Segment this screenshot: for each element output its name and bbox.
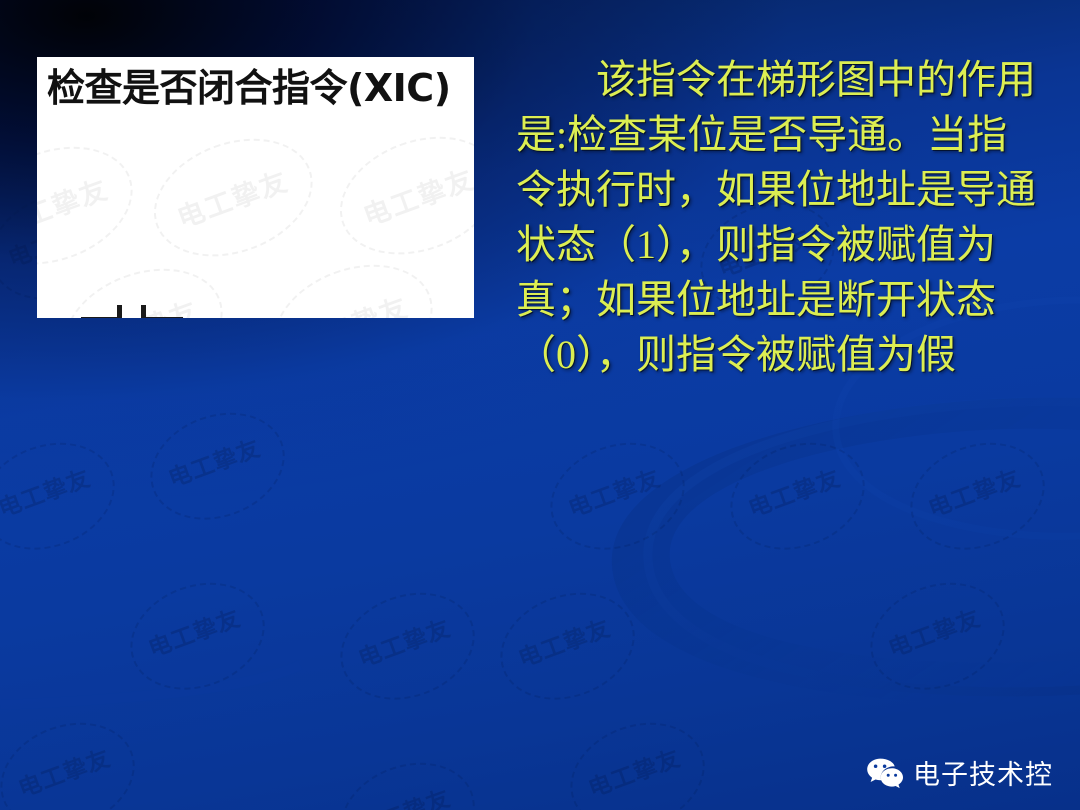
background-watermark: 电工挚友 [309,719,501,810]
wechat-logo-icon [866,757,904,789]
background-watermark: 电工挚友 [99,539,291,731]
slide-canvas: 电工挚友 电工挚友 电工挚友 电工挚友 电工挚友 电工挚友 电工挚友 电工挚友 … [0,0,1080,810]
background-watermark: 电工挚友 [309,549,501,741]
instruction-card: 电工挚友 电工挚友 电工挚友 电工挚友 电工挚友 检查是否闭合指令(XIC) 输… [37,57,474,318]
card-watermark: 电工挚友 [132,112,333,283]
wechat-badge: 电子技术控 [866,753,1053,792]
card-watermark: 电工挚友 [252,238,453,318]
background-watermark: 电工挚友 [839,539,1031,731]
card-watermark: 电工挚友 [318,110,474,281]
body-paragraph: 该指令在梯形图中的作用是:检查某位是否导通。当指令执行时，如果位地址是导通状态（… [516,52,1036,382]
background-watermark: 电工挚友 [119,369,311,561]
card-title: 检查是否闭合指令(XIC) [47,69,467,109]
background-watermark: 电工挚友 [0,679,161,810]
card-watermark: 电工挚友 [37,120,152,291]
xic-contact-symbol-icon [81,303,185,318]
background-watermark: 电工挚友 [0,399,141,591]
wechat-account-name: 电子技术控 [913,753,1053,792]
background-watermark: 电工挚友 [699,399,891,591]
